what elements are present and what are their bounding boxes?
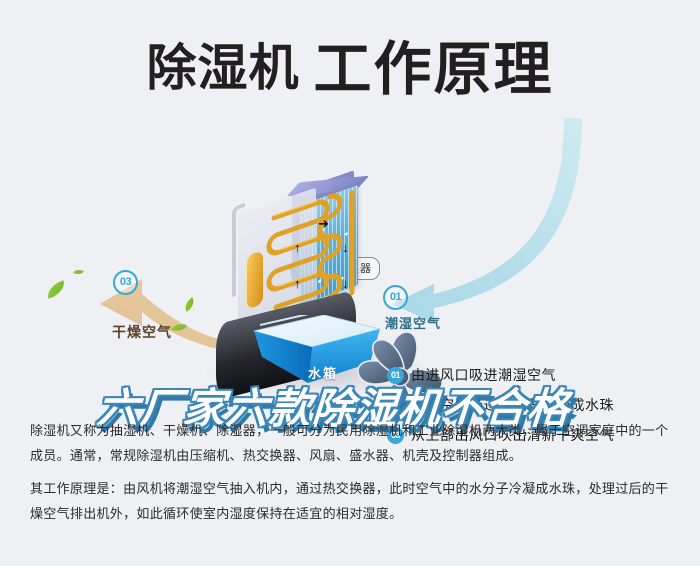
- flow-arrow-right-icon: ➜: [318, 217, 329, 230]
- body-paragraph-1: 除湿机又称为抽湿机、干燥机、除湿器，一般可分为民用除湿机和工业除湿机两大类，属于…: [30, 418, 675, 468]
- page-title-part2: 工作原理: [313, 37, 553, 102]
- page-title: 除湿机工作原理: [0, 22, 700, 106]
- page-title-part1: 除湿机: [146, 40, 299, 96]
- leaf-icon: [73, 267, 84, 276]
- flow-arrow-up-icon: ↑: [294, 277, 301, 290]
- flow-arrow-down-icon: ↓: [342, 277, 349, 290]
- leaf-icon: [44, 280, 67, 299]
- dehumidifier-unit: ➜ ↑ ↑ ↓ ↓: [196, 165, 416, 380]
- diagram-badge-03: 03: [113, 270, 138, 295]
- dry-air-label: 干燥空气: [112, 322, 172, 342]
- flow-arrow-up-icon: ↑: [294, 241, 301, 254]
- dehumidifier-diagram: 潮湿空气 01 干燥空气 03 02 热交换器: [0, 110, 700, 405]
- flow-arrow-down-icon: ↓: [342, 241, 349, 254]
- body-paragraph-2: 其工作原理是：由风机将潮湿空气抽入机内，通过热交换器，此时空气中的水分子冷凝成水…: [30, 476, 675, 526]
- refrigerant-tube: [232, 203, 245, 297]
